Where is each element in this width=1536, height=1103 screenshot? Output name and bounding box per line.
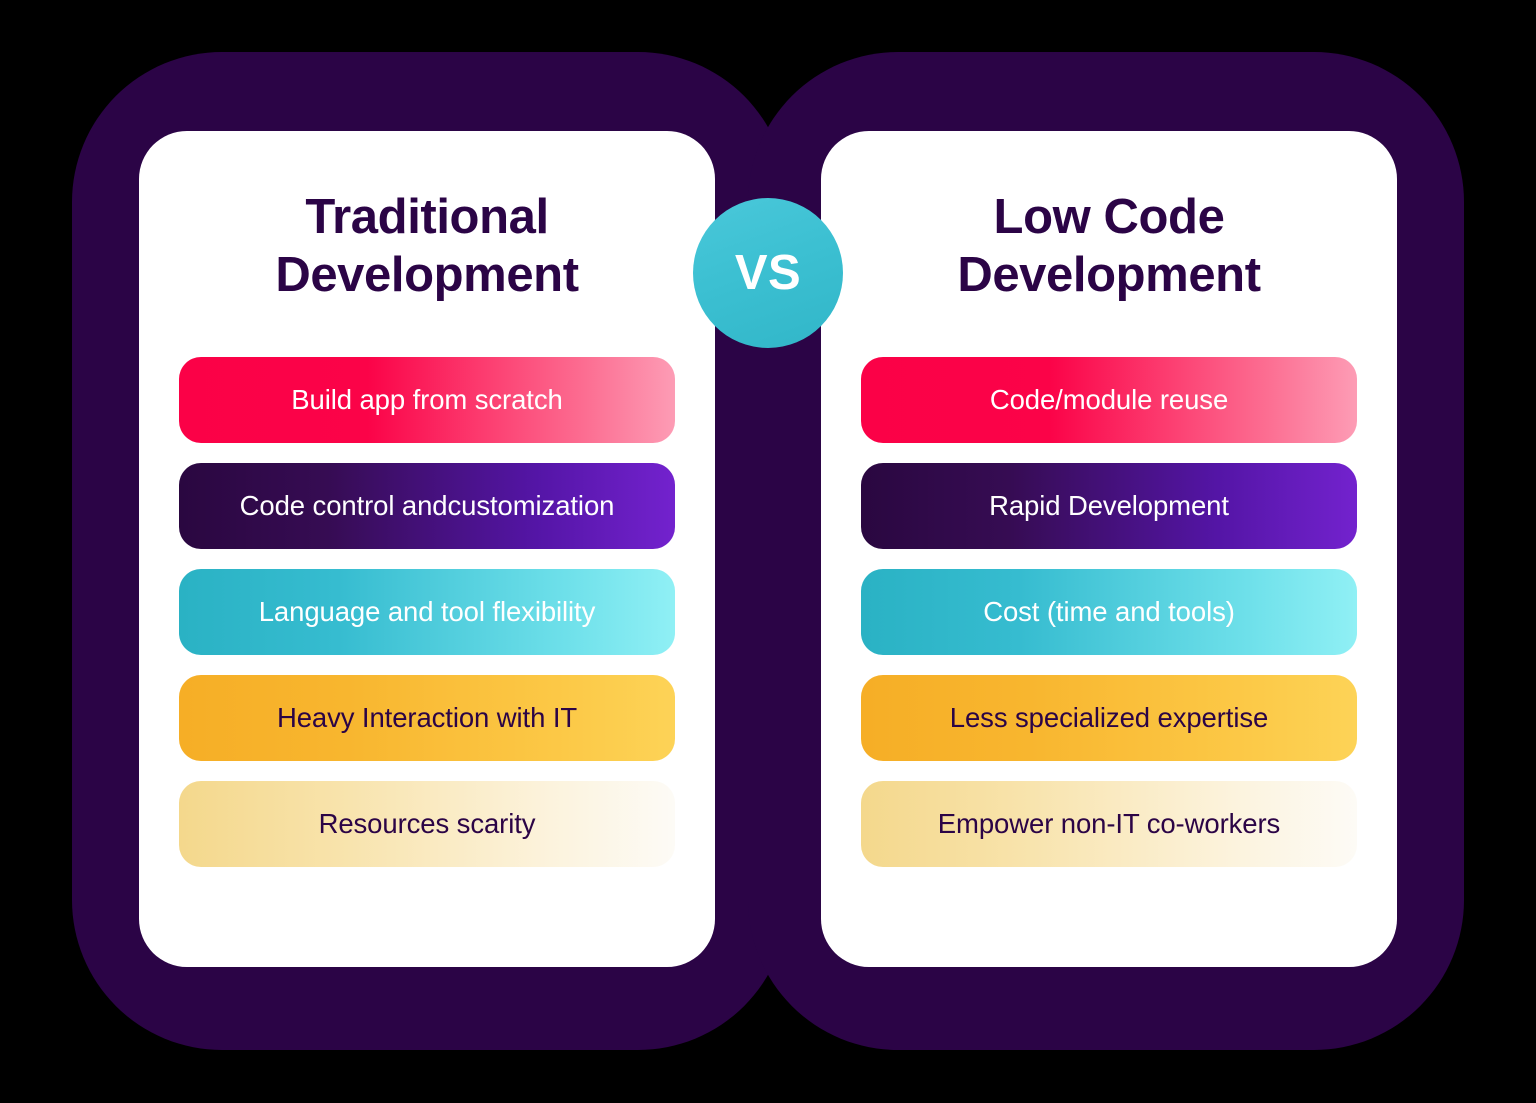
pill-label: Heavy Interaction with IT: [277, 702, 577, 734]
card-traditional-development: Traditional Development Build app from s…: [139, 131, 715, 967]
vs-badge-icon: VS: [693, 198, 843, 348]
pill-label: Rapid Development: [989, 490, 1229, 522]
pill-label: Build app from scratch: [291, 384, 562, 416]
comparison-cards: Traditional Development Build app from s…: [0, 0, 1536, 1103]
pill-traditional-1[interactable]: Build app from scratch: [179, 357, 675, 443]
pill-lowcode-3[interactable]: Cost (time and tools): [861, 569, 1357, 655]
pill-lowcode-5[interactable]: Empower non-IT co-workers: [861, 781, 1357, 867]
pill-list-traditional: Build app from scratch Code control andc…: [179, 357, 675, 867]
pill-label: Cost (time and tools): [983, 596, 1235, 628]
vs-badge-label: VS: [735, 245, 801, 301]
pill-lowcode-1[interactable]: Code/module reuse: [861, 357, 1357, 443]
infographic-stage: Traditional Development Build app from s…: [0, 0, 1536, 1103]
pill-label: Empower non-IT co-workers: [938, 808, 1280, 840]
pill-lowcode-4[interactable]: Less specialized expertise: [861, 675, 1357, 761]
pill-traditional-4[interactable]: Heavy Interaction with IT: [179, 675, 675, 761]
pill-traditional-3[interactable]: Language and tool flexibility: [179, 569, 675, 655]
card-low-code-development: Low Code Development Code/module reuse R…: [821, 131, 1397, 967]
pill-traditional-2[interactable]: Code control andcustomization: [179, 463, 675, 549]
pill-label: Code control andcustomization: [240, 490, 615, 522]
card-title-traditional: Traditional Development: [179, 131, 675, 305]
pill-label: Resources scarity: [319, 808, 536, 840]
pill-label: Language and tool flexibility: [259, 596, 596, 628]
card-title-low-code: Low Code Development: [861, 131, 1357, 305]
pill-traditional-5[interactable]: Resources scarity: [179, 781, 675, 867]
pill-list-low-code: Code/module reuse Rapid Development Cost…: [861, 357, 1357, 867]
pill-label: Code/module reuse: [990, 384, 1228, 416]
pill-label: Less specialized expertise: [950, 702, 1268, 734]
pill-lowcode-2[interactable]: Rapid Development: [861, 463, 1357, 549]
